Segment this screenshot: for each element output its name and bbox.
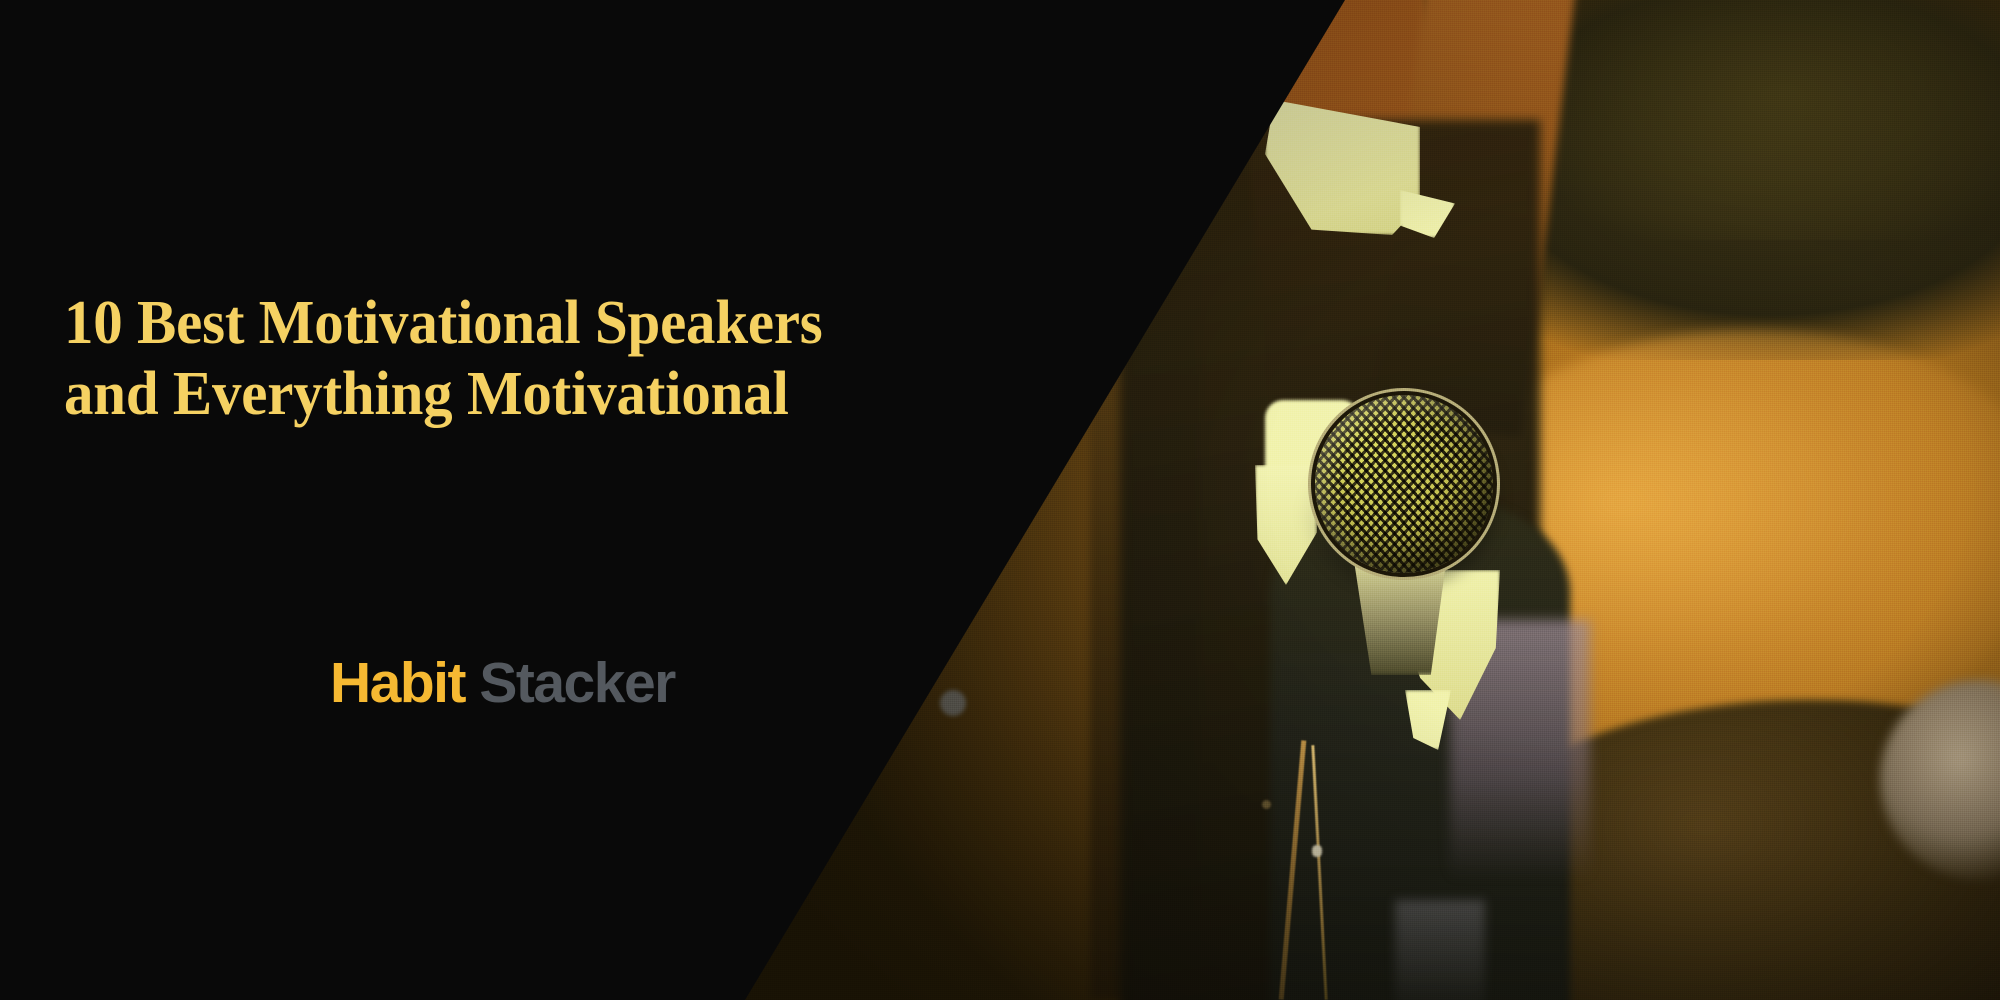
text-panel: 10 Best Motivational Speakers and Everyt… [0, 0, 1000, 1000]
banner-canvas: 10 Best Motivational Speakers and Everyt… [0, 0, 2000, 1000]
brand-logo-primary: Habit [330, 651, 465, 715]
page-title: 10 Best Motivational Speakers and Everyt… [64, 288, 843, 429]
brand-logo-secondary: Stacker [479, 651, 675, 715]
brand-logo[interactable]: Habit Stacker [330, 650, 675, 716]
